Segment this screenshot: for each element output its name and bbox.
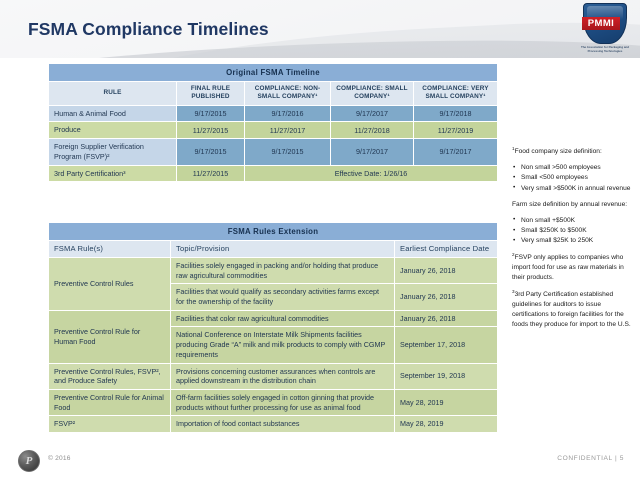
row-topic-cell: Provisions concerning customer assurance… [171,363,395,389]
table-fsma-rules-extension: FSMA Rules ExtensionFSMA Rule(s)Topic/Pr… [48,222,498,433]
row-topic-cell: Off-farm facilities solely engaged in co… [171,390,395,416]
pmmi-logo-text: PMMI [588,18,614,29]
confidential-label: CONFIDENTIAL | 5 [557,455,624,462]
column-header: FSMA Rule(s) [49,241,171,258]
table-row: Produce11/27/201511/27/201711/27/201811/… [49,122,498,139]
row-rule-label: Preventive Control Rule for Animal Food [49,390,171,416]
row-rule-label: Produce [49,122,177,139]
row-topic-cell: Facilities solely engaged in packing and… [171,257,395,283]
column-header: Earliest Compliance Date [395,241,498,258]
footer-logo-glyph: P [19,451,39,471]
row-rule-label: Preventive Control Rule for Human Food [49,310,171,363]
row-topic-cell: Facilities that would qualify as seconda… [171,284,395,310]
row-date-cell: January 26, 2018 [395,310,498,327]
column-header: RULE [49,82,177,106]
row-topic-cell: Importation of food contact substances [171,416,395,433]
table-row: Preventive Control Rules, FSVP², and Pro… [49,363,498,389]
row-date-cell: 11/27/2015 [177,122,245,139]
footnote-marker: 3 [512,289,515,294]
row-rule-label: Preventive Control Rules, FSVP², and Pro… [49,363,171,389]
table-row: Preventive Control RulesFacilities solel… [49,257,498,283]
pmmi-tagline: The Association for Packaging and Proces… [579,46,631,54]
row-date-cell: 9/17/2017 [331,139,414,165]
footer-logo-icon: P [18,450,40,472]
table-row: Preventive Control Rule for Human FoodFa… [49,310,498,327]
slide-footer: P © 2016 CONFIDENTIAL | 5 [0,444,640,480]
copyright-text: © 2016 [48,455,71,462]
footnote-bullet-list: Non small >500 employeesSmall <500 emplo… [512,163,636,194]
row-date-cell: 11/27/2017 [245,122,331,139]
table-row: Foreign Supplier Verification Program (F… [49,139,498,165]
footnotes-panel: 1Food company size definition:Non small … [512,146,636,336]
row-rule-label: Human & Animal Food [49,105,177,122]
column-header: Topic/Provision [171,241,395,258]
row-rule-label: Preventive Control Rules [49,257,171,310]
table-row: Original FSMA Timeline [49,64,498,82]
table-caption: Original FSMA Timeline [49,64,498,82]
row-date-cell: September 17, 2018 [395,327,498,363]
row-date-cell: 9/17/2015 [177,105,245,122]
list-item: Small $250K to $500K [512,226,636,236]
footnote-text: 2FSVP only applies to companies who impo… [512,252,636,283]
row-date-cell: 9/17/2018 [414,105,498,122]
row-rule-label: Foreign Supplier Verification Program (F… [49,139,177,165]
row-date-cell: January 26, 2018 [395,257,498,283]
row-date-cell: May 28, 2019 [395,390,498,416]
pmmi-logo: PMMI The Association for Packaging and P… [579,3,631,57]
list-item: Small <500 employees [512,173,636,183]
row-date-cell: 9/17/2016 [245,105,331,122]
table-row: 3rd Party Certification³11/27/2015Effect… [49,165,498,182]
table-original-fsma-timeline: Original FSMA TimelineRULEFINAL RULE PUB… [48,63,498,182]
footnote-text: 33rd Party Certification established gui… [512,289,636,330]
row-rule-label: 3rd Party Certification³ [49,165,177,182]
row-date-cell: 11/27/2015 [177,165,245,182]
list-item: Non small >500 employees [512,163,636,173]
row-date-cell: September 19, 2018 [395,363,498,389]
column-header: COMPLIANCE: SMALL COMPANY¹ [331,82,414,106]
table-caption: FSMA Rules Extension [49,223,498,241]
row-effective-date-cell: Effective Date: 1/26/16 [245,165,498,182]
footnote-marker: 2 [512,252,515,257]
row-date-cell: 11/27/2018 [331,122,414,139]
row-date-cell: January 26, 2018 [395,284,498,310]
page-title: FSMA Compliance Timelines [28,19,269,40]
table-header-row: RULEFINAL RULE PUBLISHEDCOMPLIANCE: NON-… [49,82,498,106]
row-date-cell: 11/27/2019 [414,122,498,139]
row-date-cell: 9/17/2015 [177,139,245,165]
table-header-row: FSMA Rule(s)Topic/ProvisionEarliest Comp… [49,241,498,258]
row-date-cell: May 28, 2019 [395,416,498,433]
footnote-text: 1Food company size definition: [512,146,636,157]
row-topic-cell: National Conference on Interstate Milk S… [171,327,395,363]
table-row: FSVP²Importation of food contact substan… [49,416,498,433]
footnote-text: Farm size definition by annual revenue: [512,200,636,210]
row-topic-cell: Facilities that color raw agricultural c… [171,310,395,327]
list-item: Non small +$500K [512,216,636,226]
row-date-cell: 9/17/2017 [331,105,414,122]
row-date-cell: 9/17/2015 [245,139,331,165]
list-item: Very small $25K to 250K [512,236,636,246]
table-row: FSMA Rules Extension [49,223,498,241]
row-date-cell: 9/17/2017 [414,139,498,165]
table-row: Preventive Control Rule for Animal FoodO… [49,390,498,416]
footnote-marker: 1 [512,146,515,151]
column-header: COMPLIANCE: VERY SMALL COMPANY¹ [414,82,498,106]
table-row: Human & Animal Food9/17/20159/17/20169/1… [49,105,498,122]
column-header: FINAL RULE PUBLISHED [177,82,245,106]
column-header: COMPLIANCE: NON-SMALL COMPANY¹ [245,82,331,106]
pmmi-logo-band: PMMI [582,17,620,30]
row-rule-label: FSVP² [49,416,171,433]
list-item: Very small >$500K in annual revenue [512,184,636,194]
footnote-bullet-list: Non small +$500KSmall $250K to $500KVery… [512,216,636,247]
